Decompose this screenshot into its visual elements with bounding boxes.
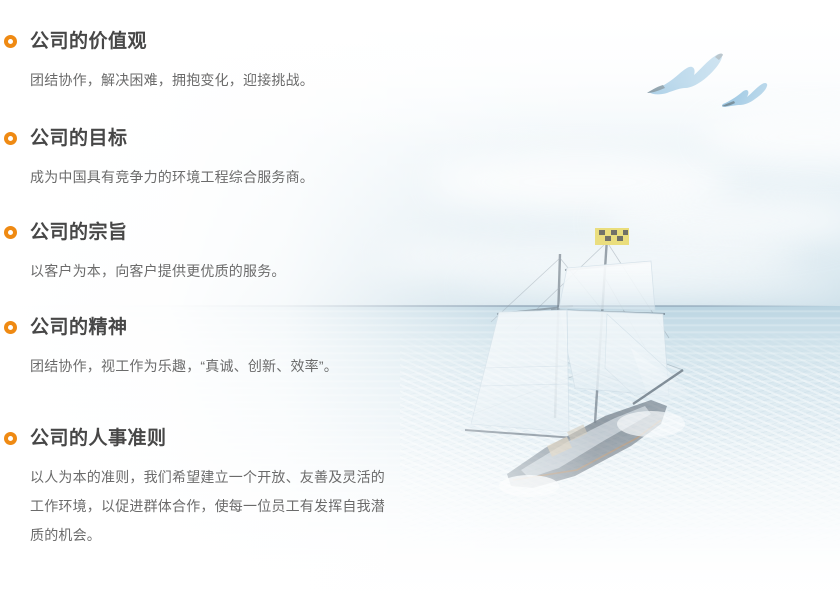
culture-item-spirit: 公司的精神 团结协作，视工作为乐趣，“真诚、创新、效率”。 [0,316,338,381]
culture-item-heading: 公司的宗旨 [30,221,286,244]
culture-item-line: 工作环境，以促进群体合作，使每一位员工有发挥自我潜 [30,492,385,521]
culture-list: 公司的价值观 团结协作，解决困难，拥抱变化，迎接挑战。 公司的目标 成为中国具有… [0,0,840,610]
ring-bullet-icon [4,321,17,334]
ring-bullet-icon [4,432,17,445]
ring-bullet-icon [4,226,17,239]
culture-panel: 公司的价值观 团结协作，解决困难，拥抱变化，迎接挑战。 公司的目标 成为中国具有… [0,0,840,610]
culture-item-heading: 公司的精神 [30,316,338,339]
culture-item-heading: 公司的价值观 [30,30,314,53]
culture-item-goal: 公司的目标 成为中国具有竞争力的环境工程综合服务商。 [0,127,314,192]
culture-item-heading: 公司的人事准则 [30,427,385,450]
culture-item-body: 团结协作，解决困难，拥抱变化，迎接挑战。 [30,66,314,95]
culture-item-body: 以客户为本，向客户提供更优质的服务。 [30,257,286,286]
culture-item-line: 以人为本的准则，我们希望建立一个开放、友善及灵活的 [30,463,385,492]
culture-item-line: 成为中国具有竞争力的环境工程综合服务商。 [30,163,314,192]
culture-item-line: 团结协作，视工作为乐趣，“真诚、创新、效率”。 [30,352,338,381]
culture-item-line: 团结协作，解决困难，拥抱变化，迎接挑战。 [30,66,314,95]
culture-item-hr-principles: 公司的人事准则 以人为本的准则，我们希望建立一个开放、友善及灵活的 工作环境，以… [0,427,385,550]
culture-item-body: 以人为本的准则，我们希望建立一个开放、友善及灵活的 工作环境，以促进群体合作，使… [30,463,385,550]
culture-item-values: 公司的价值观 团结协作，解决困难，拥抱变化，迎接挑战。 [0,30,314,95]
culture-item-heading: 公司的目标 [30,127,314,150]
culture-item-purpose: 公司的宗旨 以客户为本，向客户提供更优质的服务。 [0,221,286,286]
culture-item-body: 成为中国具有竞争力的环境工程综合服务商。 [30,163,314,192]
ring-bullet-icon [4,35,17,48]
ring-bullet-icon [4,132,17,145]
culture-item-line: 以客户为本，向客户提供更优质的服务。 [30,257,286,286]
culture-item-line: 质的机会。 [30,521,385,550]
culture-item-body: 团结协作，视工作为乐趣，“真诚、创新、效率”。 [30,352,338,381]
